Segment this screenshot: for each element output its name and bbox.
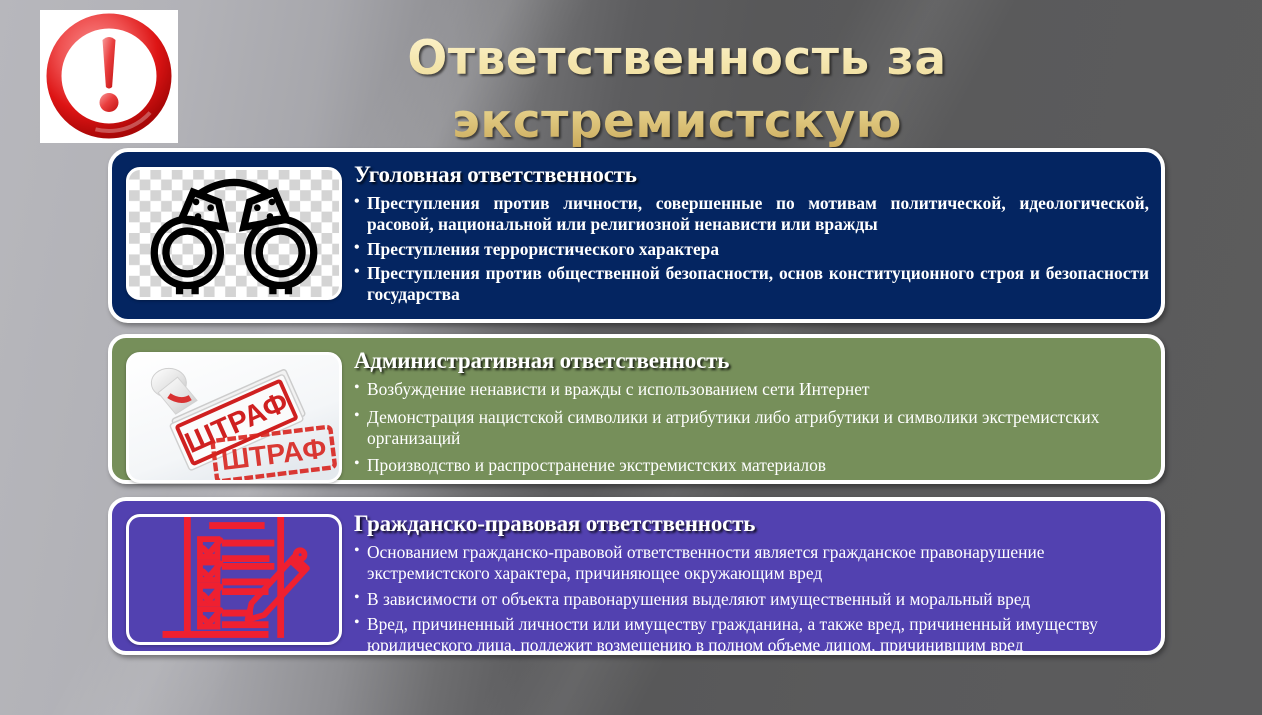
card-heading: Уголовная ответственность: [354, 162, 1153, 188]
list-item: Основанием гражданско-правовой ответстве…: [354, 542, 1153, 584]
card-heading: Административная ответственность: [354, 348, 1153, 374]
card-administrative-liability: ШТРАФ ШТРАФ Административная ответственн…: [108, 334, 1165, 484]
bullet-list: Возбуждение ненависти и вражды с использ…: [354, 379, 1153, 477]
card-criminal-liability: Уголовная ответственность Преступления п…: [108, 148, 1165, 323]
list-item: Преступления против общественной безопас…: [354, 263, 1153, 305]
list-item: Возбуждение ненависти и вражды с использ…: [354, 379, 1153, 400]
card-body: Гражданско-правовая ответственность Осно…: [342, 501, 1161, 662]
slide-canvas: Ответственность за экстремистскую деятел…: [0, 0, 1262, 715]
list-item: Вред, причиненный личности или имуществу…: [354, 614, 1153, 656]
checklist-pencil-glyph: [129, 517, 339, 642]
bullet-list: Основанием гражданско-правовой ответстве…: [354, 542, 1153, 656]
handcuffs-image: [126, 167, 342, 300]
list-item: В зависимости от объекта правонарушения …: [354, 589, 1153, 610]
warning-exclamation-icon: [40, 10, 178, 143]
fine-stamp-glyph: ШТРАФ ШТРАФ: [129, 355, 339, 480]
fine-stamp-image: ШТРАФ ШТРАФ: [126, 352, 342, 483]
list-item: Преступления террористического характера: [354, 239, 1153, 260]
handcuffs-glyph: [129, 170, 339, 297]
card-civil-liability: Гражданско-правовая ответственность Осно…: [108, 497, 1165, 655]
list-item: Преступления против личности, совершенны…: [354, 193, 1153, 235]
bullet-list: Преступления против личности, совершенны…: [354, 193, 1153, 305]
list-item: Производство и распространение экстремис…: [354, 455, 1153, 476]
card-body: Административная ответственность Возбужд…: [342, 338, 1161, 482]
checklist-pencil-image: [126, 514, 342, 645]
list-item: Демонстрация нацистской символики и атри…: [354, 407, 1153, 449]
card-body: Уголовная ответственность Преступления п…: [342, 152, 1161, 311]
card-heading: Гражданско-правовая ответственность: [354, 511, 1153, 537]
warning-exclamation-glyph: [40, 10, 178, 143]
